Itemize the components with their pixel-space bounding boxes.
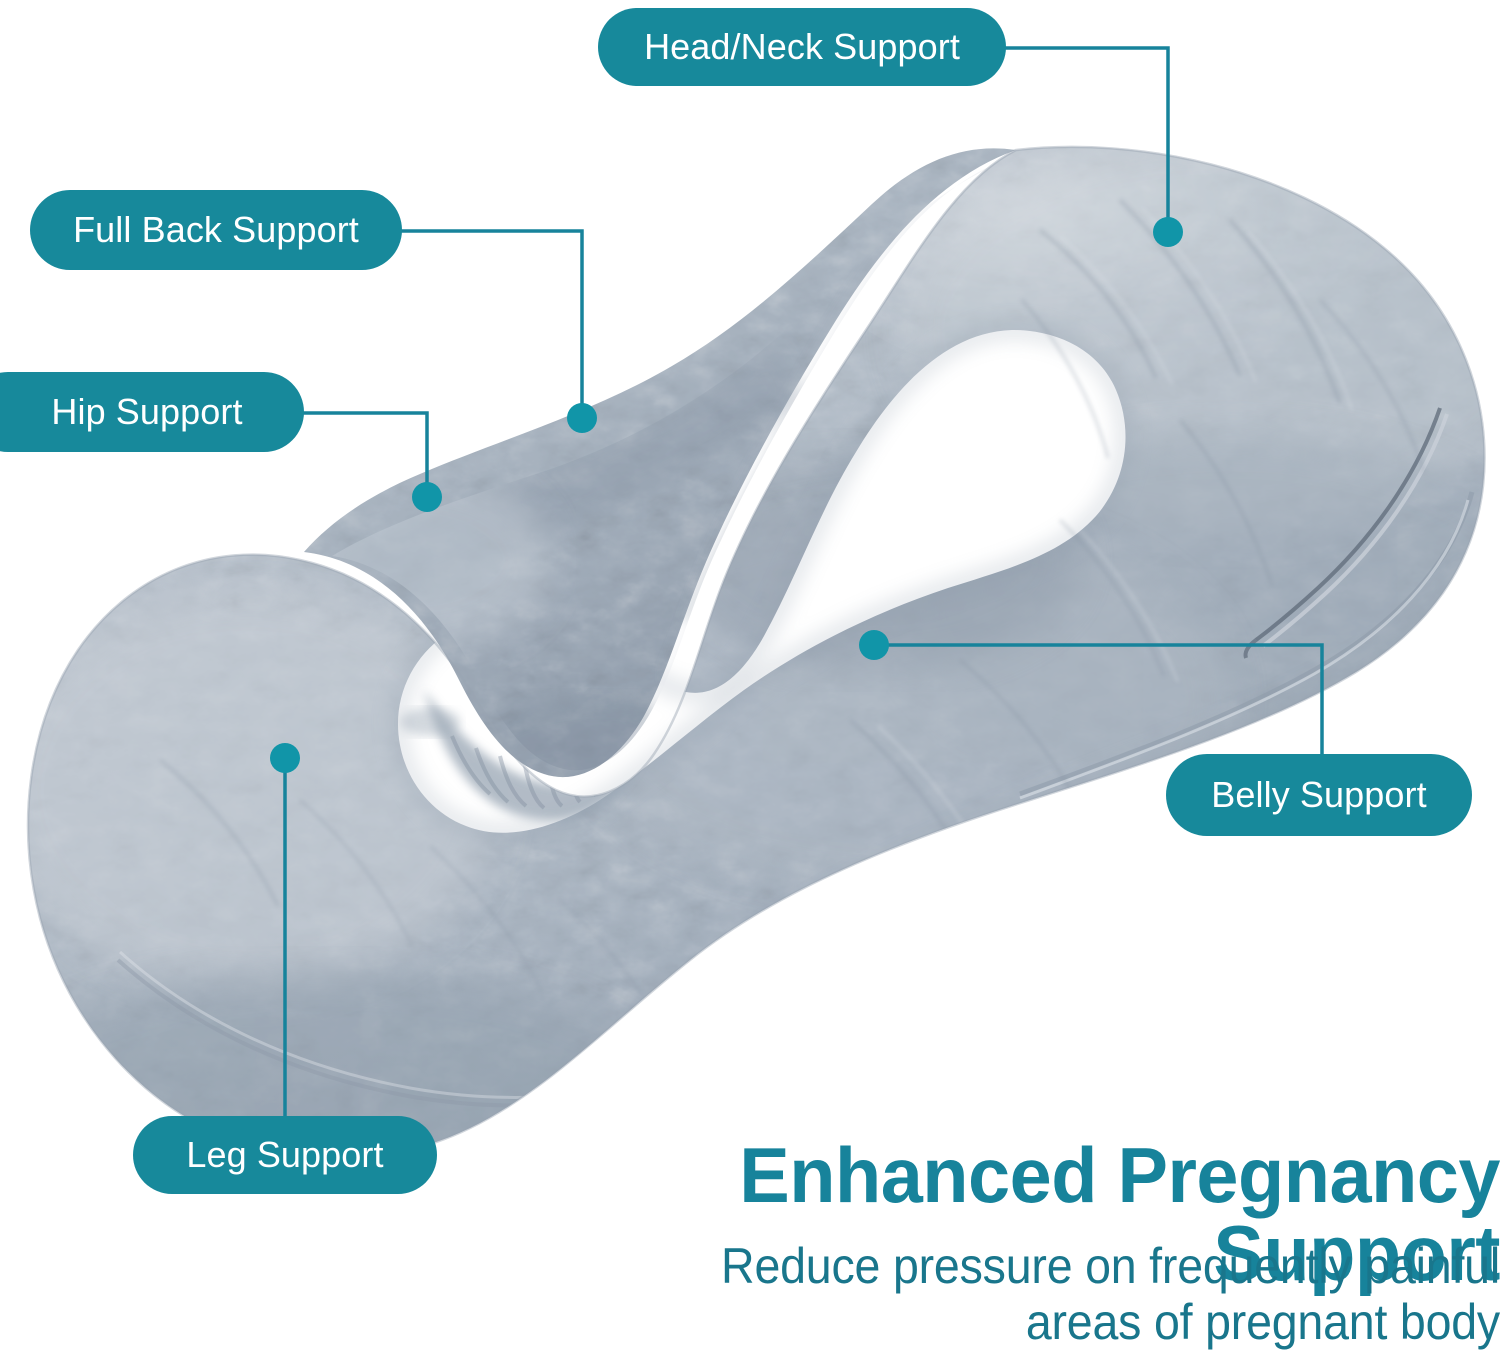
callout-hip-support[interactable]: Hip Support xyxy=(0,372,304,452)
subheadline-line-1: Reduce pressure on frequently painful xyxy=(626,1238,1500,1294)
product-infographic: Head/Neck Support Full Back Support Hip … xyxy=(0,0,1500,1354)
callout-hip-label: Hip Support xyxy=(51,394,242,430)
callout-leg-support[interactable]: Leg Support xyxy=(133,1116,437,1194)
callout-leg-label: Leg Support xyxy=(186,1137,383,1173)
subheadline: Reduce pressure on frequently painful ar… xyxy=(626,1238,1500,1350)
callout-head-neck-support[interactable]: Head/Neck Support xyxy=(598,8,1006,86)
subheadline-line-2: areas of pregnant body xyxy=(626,1294,1500,1350)
callout-belly-label: Belly Support xyxy=(1211,777,1426,813)
callout-full-back-label: Full Back Support xyxy=(73,212,359,248)
callout-head-neck-label: Head/Neck Support xyxy=(644,29,960,65)
callout-belly-support[interactable]: Belly Support xyxy=(1166,754,1472,836)
callout-full-back-support[interactable]: Full Back Support xyxy=(30,190,402,270)
